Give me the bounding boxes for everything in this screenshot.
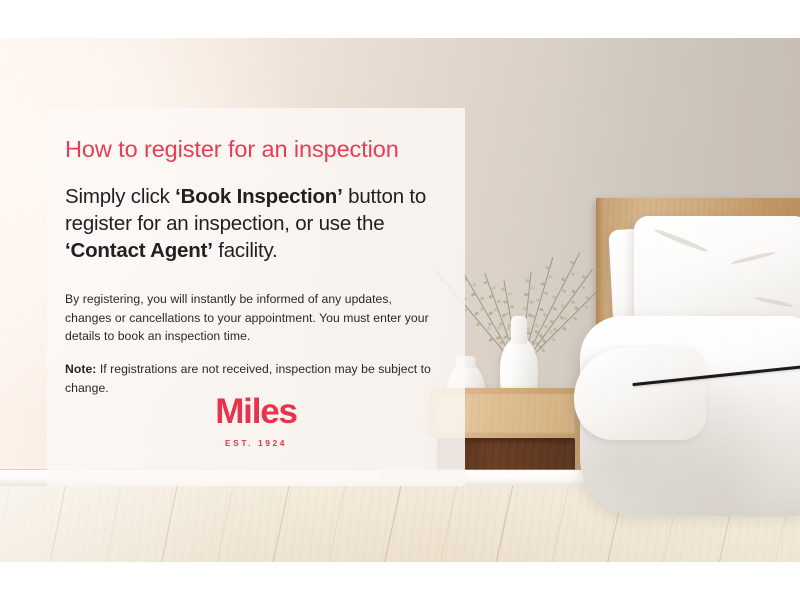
branch-leaf [534,324,539,328]
branch-leaf [476,322,481,327]
info-panel-content: How to register for an inspection Simply… [47,108,465,486]
branch-leaf [584,305,589,310]
branch-leaf [472,282,477,287]
branch-leaf [545,265,550,269]
branch-leaf [539,308,544,312]
pillow-crease [754,296,794,308]
branch-leaf [497,326,502,331]
branch-leaf [526,279,530,282]
branch-leaf [571,289,576,294]
branch-leaf [498,322,503,326]
branch-leaf [544,291,549,295]
branch-leaf [562,326,567,331]
branch-leaf [474,311,479,316]
lede-part-1: Simply click [65,185,175,208]
branch-leaf [531,314,536,318]
branch-leaf [503,335,508,339]
note-label: Note: [65,362,96,376]
room-photo: How to register for an inspection Simply… [0,38,800,562]
info-panel-corner-tab [379,437,465,486]
lede-part-3: facility. [213,239,278,262]
branch-leaf [542,338,547,343]
branch-leaf [493,308,498,312]
branch-leaf [543,313,548,317]
lede-bold-book-inspection: ‘Book Inspection’ [175,185,342,208]
branch-leaf [491,286,496,290]
branch-leaf [539,333,544,338]
branch-leaf [503,300,507,304]
branch-leaf [585,295,590,300]
branch-leaf [510,305,514,309]
branch-leaf [563,317,568,322]
branch-leaf [560,304,565,309]
branch-leaf [496,299,501,303]
branch-leaf [553,306,558,310]
logo-wordmark: Miles [47,394,465,429]
branch-leaf [540,348,545,353]
branch-leaf [562,289,567,293]
branch-leaf [573,316,578,321]
lede-text: Simply click ‘Book Inspection’ button to… [65,183,441,264]
branch-leaf [488,294,493,298]
lede-bold-contact-agent: ‘Contact Agent’ [65,239,213,262]
duvet-fold [574,348,706,440]
pillow-crease [730,250,776,265]
note-text: If registrations are not received, inspe… [65,362,431,395]
branch-leaf [488,337,493,342]
branch-leaf [487,321,492,326]
branch-leaf [529,300,533,303]
branch-leaf [524,293,528,296]
branch-leaf [581,285,586,290]
branch-leaf [574,306,579,311]
branch-leaf [523,306,527,309]
body-paragraph-registering: By registering, you will instantly be in… [65,290,441,346]
branch-leaf [570,260,575,264]
branch-leaf [486,326,491,331]
branch-leaf [483,281,488,285]
branch-leaf [570,271,575,275]
page-title: How to register for an inspection [65,135,441,163]
branch-leaf [471,292,476,297]
branch-leaf [496,336,501,341]
vase-neck [511,316,527,344]
branch-leaf [548,275,553,279]
branch-leaf [549,319,554,324]
branch-leaf [534,330,539,334]
branch-leaf [551,337,556,342]
branch-leaf [552,295,557,299]
screenshot-stage: How to register for an inspection Simply… [0,0,800,600]
branch-leaf [488,311,493,316]
branch-leaf [505,312,509,316]
branch-leaf [570,300,575,305]
branch-leaf [508,293,512,297]
pillow-crease [653,227,709,253]
branch-leaf [536,298,541,302]
branch-leaf [479,307,484,312]
branch-leaf [581,275,586,280]
branch-leaf [501,287,505,291]
branch-leaf [531,286,535,289]
branch-leaf [561,278,566,282]
branch-leaf [540,282,545,286]
info-panel: How to register for an inspection Simply… [47,108,465,486]
branch-leaf [480,297,485,302]
